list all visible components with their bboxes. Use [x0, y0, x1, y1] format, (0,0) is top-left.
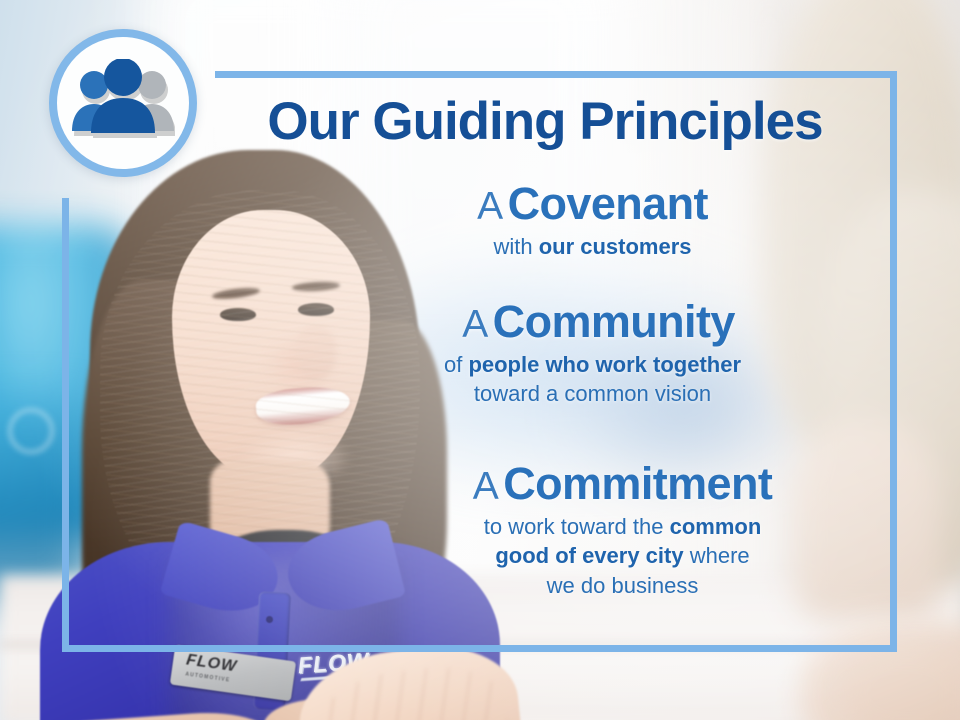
community-sub-line2: toward a common vision: [474, 381, 711, 406]
principle-commitment-subtext: to work toward the common good of every …: [330, 512, 915, 600]
commitment-sub-line3: we do business: [547, 573, 699, 598]
principle-commitment-keyword: Commitment: [503, 458, 772, 509]
principle-community-article: A: [462, 303, 488, 346]
commitment-sub-lead: to work toward the: [484, 514, 670, 539]
principle-community-heading: A Community: [300, 298, 885, 347]
principle-covenant-keyword: Covenant: [508, 178, 708, 229]
principle-covenant-subtext: with our customers: [300, 232, 885, 261]
community-sub-bold: people who work together: [468, 352, 741, 377]
community-sub-lead: of: [444, 352, 468, 377]
frame-border-bottom: [62, 645, 897, 652]
principle-community-keyword: Community: [493, 296, 735, 347]
commitment-sub-bold1: common: [670, 514, 762, 539]
principle-commitment: A Commitment to work toward the common g…: [330, 460, 915, 600]
principle-covenant-heading: A Covenant: [300, 180, 885, 229]
blurred-wall-logo: [8, 408, 54, 454]
covenant-sub-lead: with: [493, 234, 538, 259]
principle-community-subtext: of people who work together toward a com…: [300, 350, 885, 408]
frame-border-left: [62, 198, 69, 652]
frame-border-top: [215, 71, 897, 78]
people-group-badge: [49, 29, 197, 177]
blurred-foreground-hand-2: [845, 648, 960, 720]
commitment-sub-tail: where: [684, 543, 750, 568]
covenant-sub-bold: our customers: [539, 234, 692, 259]
page-title: Our Guiding Principles: [215, 95, 875, 149]
principle-covenant: A Covenant with our customers: [300, 180, 885, 261]
principle-covenant-article: A: [477, 185, 503, 228]
polo-button-top: [266, 616, 273, 623]
people-group-icon: [71, 59, 175, 143]
banner-canvas: FLOW AUTOMOTIVE FLOW: [0, 0, 960, 720]
commitment-sub-bold2: good of every city: [495, 543, 683, 568]
principle-commitment-heading: A Commitment: [330, 460, 915, 509]
principle-commitment-article: A: [473, 465, 499, 508]
principle-community: A Community of people who work together …: [300, 298, 885, 408]
